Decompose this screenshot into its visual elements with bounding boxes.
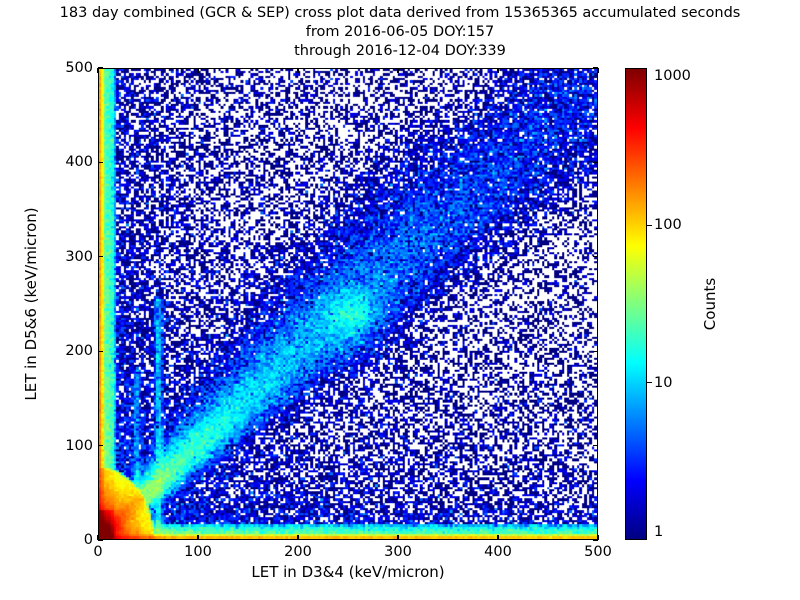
colorbar-gradient — [625, 68, 647, 540]
x-tick-mark — [597, 68, 598, 73]
x-tick-mark — [197, 535, 198, 540]
y-tick-mark — [98, 67, 103, 68]
x-tick-mark — [497, 68, 498, 73]
x-tick-mark — [397, 535, 398, 540]
plot-title-line-2: from 2016-06-05 DOY:157 — [0, 23, 800, 42]
x-tick-label: 400 — [484, 544, 512, 560]
colorbar-title-text: Counts — [701, 278, 719, 330]
x-axis-label: LET in D3&4 (keV/micron) — [98, 563, 598, 581]
x-tick-mark — [297, 535, 298, 540]
y-axis-label-text: LET in D5&6 (keV/micron) — [22, 207, 40, 400]
y-tick-mark — [98, 162, 103, 163]
plot-axes — [98, 68, 598, 540]
y-tick-label: 500 — [65, 60, 93, 76]
y-tick-mark — [593, 539, 598, 540]
y-tick-label: 300 — [65, 249, 93, 265]
x-tick-label: 500 — [584, 544, 612, 560]
y-tick-mark — [98, 351, 103, 352]
y-tick-mark — [593, 67, 598, 68]
y-tick-mark — [593, 162, 598, 163]
colorbar-tick-label: 1000 — [654, 68, 691, 84]
x-tick-label: 200 — [284, 544, 312, 560]
scatter-density-plot — [99, 69, 597, 539]
colorbar-tick-label: 10 — [654, 375, 672, 391]
y-tick-mark — [593, 445, 598, 446]
y-tick-label: 200 — [65, 343, 93, 359]
x-tick-mark — [97, 68, 98, 73]
x-tick-mark — [397, 68, 398, 73]
y-tick-mark — [593, 351, 598, 352]
colorbar-tick-mark — [647, 225, 652, 226]
y-tick-mark — [98, 445, 103, 446]
colorbar: 1101001000 — [625, 68, 647, 540]
colorbar-tick-label: 1 — [654, 524, 663, 540]
x-tick-label: 300 — [384, 544, 412, 560]
y-tick-mark — [98, 539, 103, 540]
y-tick-mark — [98, 256, 103, 257]
figure-canvas: 183 day combined (GCR & SEP) cross plot … — [0, 0, 800, 600]
colorbar-tick-mark — [647, 382, 652, 383]
y-tick-label: 100 — [65, 438, 93, 454]
x-tick-mark — [297, 68, 298, 73]
y-tick-label: 400 — [65, 154, 93, 170]
plot-title-line-1: 183 day combined (GCR & SEP) cross plot … — [0, 4, 800, 23]
colorbar-tick-label: 100 — [654, 217, 682, 233]
x-tick-mark — [497, 535, 498, 540]
plot-title: 183 day combined (GCR & SEP) cross plot … — [0, 4, 800, 61]
y-tick-label: 0 — [84, 532, 93, 548]
y-tick-mark — [593, 256, 598, 257]
x-tick-label: 0 — [93, 544, 102, 560]
x-tick-label: 100 — [184, 544, 212, 560]
plot-title-line-3: through 2016-12-04 DOY:339 — [0, 42, 800, 61]
x-tick-mark — [197, 68, 198, 73]
